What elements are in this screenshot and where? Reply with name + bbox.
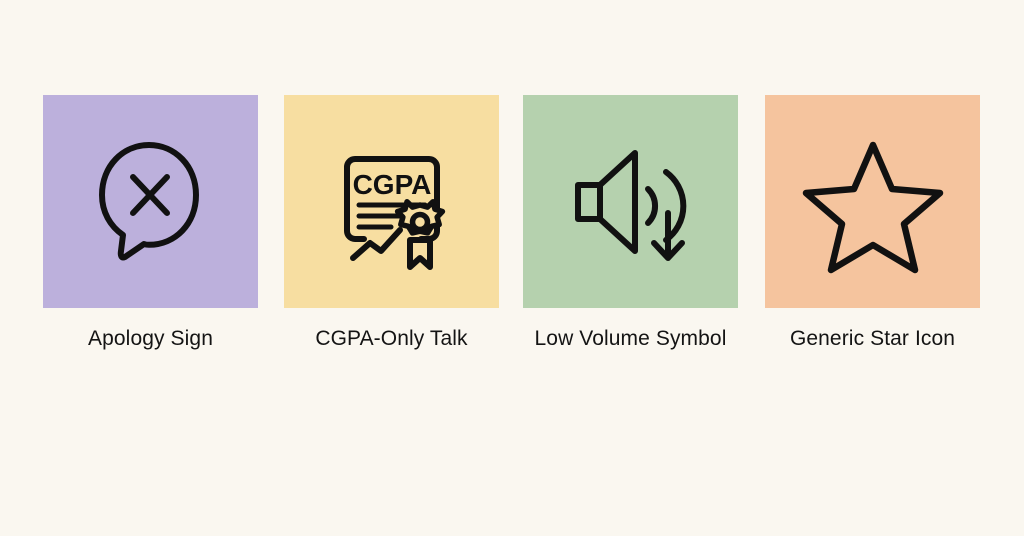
tile-generic-star-icon[interactable] — [765, 95, 980, 308]
speaker-volume-down-icon — [556, 127, 706, 277]
tile-cgpa-only-talk[interactable]: CGPA — [284, 95, 499, 308]
card-low-volume-symbol[interactable]: Low Volume Symbol — [523, 95, 738, 352]
certificate-cgpa-text: CGPA — [352, 169, 431, 200]
star-outline-icon — [798, 127, 948, 277]
card-label-generic-star-icon: Generic Star Icon — [765, 326, 980, 352]
card-generic-star-icon[interactable]: Generic Star Icon — [765, 95, 980, 352]
speech-bubble-x-icon — [76, 127, 226, 277]
card-label-low-volume-symbol: Low Volume Symbol — [511, 326, 750, 352]
icon-card-board: Apology Sign CGPA C — [0, 0, 1024, 536]
card-cgpa-only-talk[interactable]: CGPA CGPA-Only Talk — [284, 95, 499, 352]
tile-apology-sign[interactable] — [43, 95, 258, 308]
card-label-cgpa-only-talk: CGPA-Only Talk — [284, 326, 499, 352]
certificate-cgpa-icon: CGPA — [317, 127, 467, 277]
card-label-apology-sign: Apology Sign — [43, 326, 258, 352]
tile-low-volume-symbol[interactable] — [523, 95, 738, 308]
card-apology-sign[interactable]: Apology Sign — [43, 95, 258, 352]
